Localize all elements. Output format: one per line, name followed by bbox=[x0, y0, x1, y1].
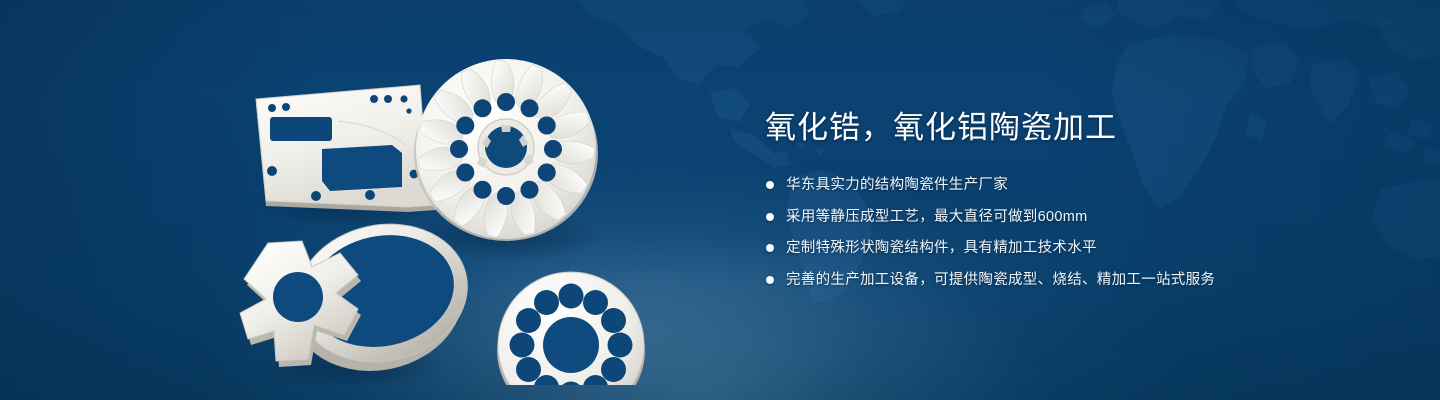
hero-banner: 氧化锆，氧化铝陶瓷加工 华东具实力的结构陶瓷件生产厂家 采用等静压成型工艺，最大… bbox=[0, 0, 1440, 400]
list-item-label: 采用等静压成型工艺，最大直径可做到600mm bbox=[786, 209, 1087, 225]
copy-block: 氧化锆，氧化铝陶瓷加工 华东具实力的结构陶瓷件生产厂家 采用等静压成型工艺，最大… bbox=[765, 108, 1385, 291]
bullet-dot-icon bbox=[766, 213, 774, 221]
ceramic-impeller-with-vanes bbox=[414, 59, 598, 241]
bullet-dot-icon bbox=[766, 276, 774, 284]
ceramic-parts-photo bbox=[230, 45, 710, 385]
list-item: 采用等静压成型工艺，最大直径可做到600mm bbox=[765, 206, 1385, 229]
list-item-label: 完善的生产加工设备，可提供陶瓷成型、烧结、精加工一站式服务 bbox=[786, 272, 1215, 288]
ceramic-perforated-ring-disc bbox=[497, 272, 645, 385]
list-item: 华东具实力的结构陶瓷件生产厂家 bbox=[765, 174, 1385, 197]
list-item: 定制特殊形状陶瓷结构件，具有精加工技术水平 bbox=[765, 237, 1385, 260]
ceramic-plate-with-cutouts bbox=[256, 85, 442, 212]
list-item: 完善的生产加工设备，可提供陶瓷成型、烧结、精加工一站式服务 bbox=[765, 269, 1385, 292]
bullet-dot-icon bbox=[766, 181, 774, 189]
bullet-dot-icon bbox=[766, 244, 774, 252]
list-item-label: 华东具实力的结构陶瓷件生产厂家 bbox=[786, 177, 1008, 193]
feature-list: 华东具实力的结构陶瓷件生产厂家 采用等静压成型工艺，最大直径可做到600mm 定… bbox=[765, 174, 1385, 291]
list-item-label: 定制特殊形状陶瓷结构件，具有精加工技术水平 bbox=[786, 240, 1097, 256]
page-title: 氧化锆，氧化铝陶瓷加工 bbox=[765, 108, 1385, 148]
